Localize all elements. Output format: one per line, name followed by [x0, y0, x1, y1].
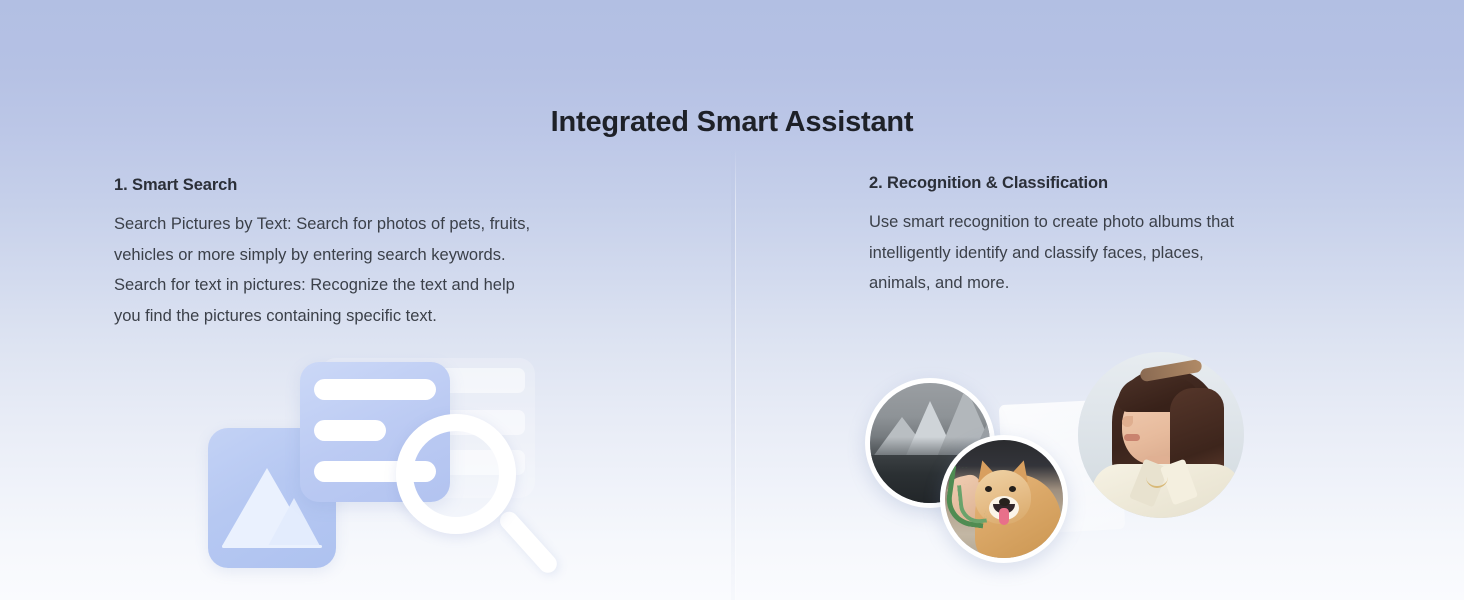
dog-nose [999, 498, 1010, 506]
magnifier-lens [396, 414, 516, 534]
person-photo [1078, 352, 1244, 518]
body-line: Search for text in pictures: Recognize t… [114, 270, 644, 301]
feature-column-recognition: 2. Recognition & Classification Use smar… [869, 174, 1359, 299]
body-line: vehicles or more simply by entering sear… [114, 240, 644, 271]
feature-body-smart-search: Search Pictures by Text: Search for phot… [114, 209, 644, 331]
dog-tongue [999, 508, 1009, 525]
mountain-shape-small [268, 498, 320, 546]
feature-body-recognition: Use smart recognition to create photo al… [869, 207, 1359, 299]
mountain-baseline [222, 545, 322, 548]
smart-search-illustration [190, 350, 590, 600]
body-line: you find the pictures containing specifi… [114, 301, 644, 332]
body-line: intelligently identify and classify face… [869, 238, 1359, 269]
recognition-illustration [840, 330, 1270, 600]
smart-assistant-banner: Integrated Smart Assistant 1. Smart Sear… [0, 0, 1464, 600]
dog-photo [940, 435, 1068, 563]
body-line: Use smart recognition to create photo al… [869, 207, 1359, 238]
text-bar [314, 379, 436, 400]
lips [1124, 434, 1140, 441]
feature-heading-smart-search: 1. Smart Search [114, 176, 644, 195]
nose [1122, 416, 1133, 427]
dog-eye [1009, 486, 1016, 492]
magnifier-handle [496, 508, 560, 577]
body-line: Search Pictures by Text: Search for phot… [114, 209, 644, 240]
body-line: animals, and more. [869, 268, 1359, 299]
magnifier-icon [390, 410, 570, 595]
text-bar [314, 420, 386, 441]
column-divider [735, 148, 736, 600]
page-title: Integrated Smart Assistant [0, 106, 1464, 139]
feature-column-smart-search: 1. Smart Search Search Pictures by Text:… [114, 176, 644, 331]
feature-heading-recognition: 2. Recognition & Classification [869, 174, 1359, 193]
